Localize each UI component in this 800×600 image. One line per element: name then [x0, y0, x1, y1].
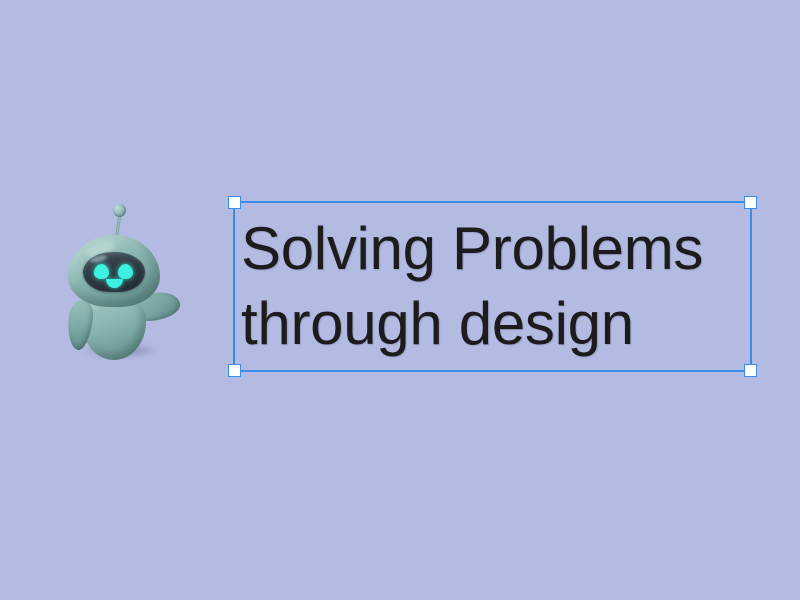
robot-smile [106, 279, 123, 288]
headline-line-1: Solving Problems [241, 212, 744, 286]
headline-text-block[interactable]: Solving Problems through design [241, 207, 744, 366]
slide-canvas[interactable]: Solving Problems through design [0, 0, 800, 600]
robot-eye-left [94, 264, 109, 279]
resize-handle-top-right[interactable] [744, 196, 757, 209]
resize-handle-top-left[interactable] [228, 196, 241, 209]
robot-face-visor [83, 252, 145, 292]
robot-antenna-ball [113, 204, 126, 217]
resize-handle-bottom-right[interactable] [744, 364, 757, 377]
resize-handle-bottom-left[interactable] [228, 364, 241, 377]
robot-mascot-image[interactable] [58, 196, 182, 368]
robot-eye-right [118, 264, 133, 279]
text-selection-box[interactable]: Solving Problems through design [233, 201, 752, 372]
headline-line-2: through design [241, 287, 744, 361]
